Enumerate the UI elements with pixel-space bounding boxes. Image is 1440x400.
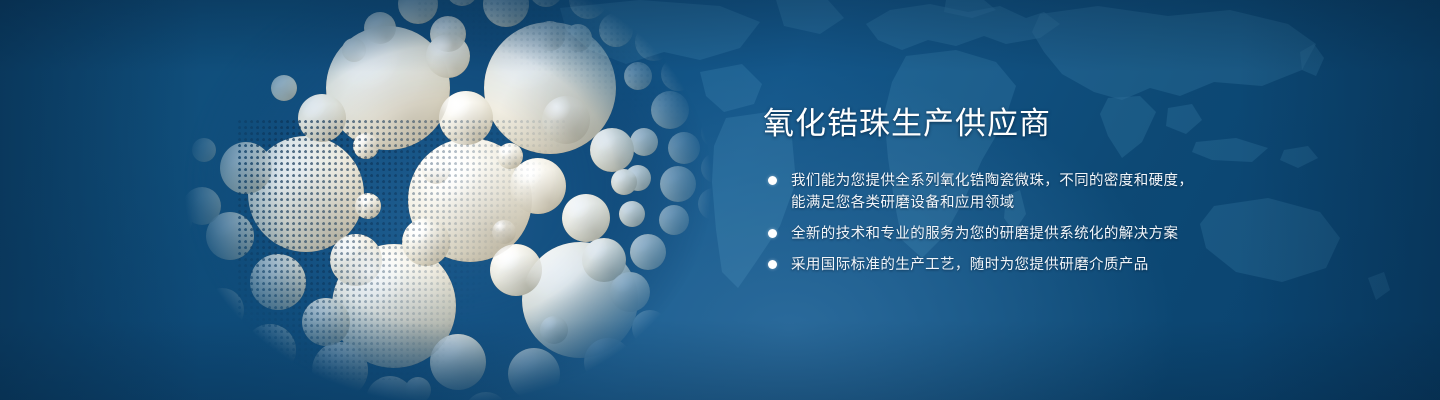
list-item: 我们能为您提供全系列氧化锆陶瓷微珠，不同的密度和硬度， 能满足您各类研磨设备和应… [763, 170, 1323, 214]
bullet-dot-icon [768, 229, 777, 238]
list-item-line1: 我们能为您提供全系列氧化锆陶瓷微珠，不同的密度和硬度， [791, 173, 1193, 189]
banner-copy: 氧化锆珠生产供应商 我们能为您提供全系列氧化锆陶瓷微珠，不同的密度和硬度， 能满… [763, 104, 1323, 276]
list-item: 采用国际标准的生产工艺，随时为您提供研磨介质产品 [763, 254, 1323, 276]
feature-list: 我们能为您提供全系列氧化锆陶瓷微珠，不同的密度和硬度， 能满足您各类研磨设备和应… [763, 170, 1323, 276]
zirconia-beads-photo [118, 0, 738, 400]
page-title: 氧化锆珠生产供应商 [763, 104, 1323, 144]
hero-banner: 氧化锆珠生产供应商 我们能为您提供全系列氧化锆陶瓷微珠，不同的密度和硬度， 能满… [0, 0, 1440, 400]
bullet-dot-icon [768, 260, 777, 269]
list-item-line2: 能满足您各类研磨设备和应用领域 [791, 192, 1323, 214]
list-item-line1: 采用国际标准的生产工艺，随时为您提供研磨介质产品 [791, 257, 1149, 273]
list-item: 全新的技术和专业的服务为您的研磨提供系统化的解决方案 [763, 223, 1323, 245]
list-item-line1: 全新的技术和专业的服务为您的研磨提供系统化的解决方案 [791, 226, 1178, 242]
bullet-dot-icon [768, 176, 777, 185]
